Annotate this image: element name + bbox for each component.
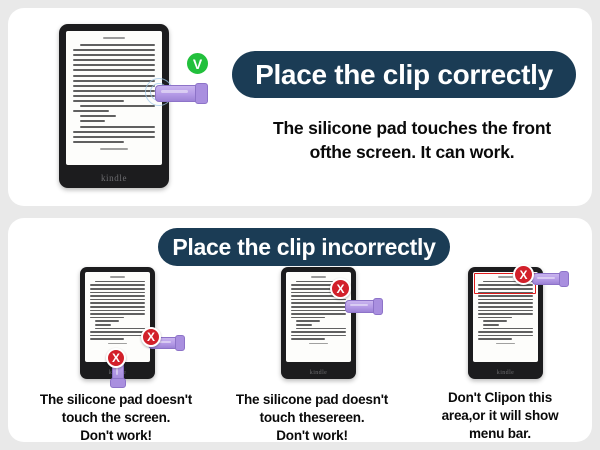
text-line <box>483 320 507 322</box>
text-line <box>73 141 124 143</box>
cross-error-icon: X <box>330 278 351 299</box>
cross-error-icon: X <box>513 264 534 285</box>
text-line <box>296 328 346 330</box>
text-line <box>478 299 533 301</box>
page-header-line <box>110 276 124 278</box>
text-line <box>80 120 105 122</box>
text-line <box>95 281 145 283</box>
text-line <box>73 95 155 97</box>
text-line <box>73 75 155 77</box>
text-line <box>90 295 145 297</box>
text-line <box>291 306 346 308</box>
text-line <box>95 328 145 330</box>
text-line <box>478 331 533 333</box>
text-line <box>90 310 145 312</box>
text-line <box>90 317 124 319</box>
text-line <box>478 335 533 337</box>
text-line <box>296 320 320 322</box>
kindle-brand-label: kindle <box>59 173 169 183</box>
kindle-brand-label: kindle <box>468 370 543 376</box>
text-line <box>291 317 325 319</box>
text-line <box>80 44 155 46</box>
text-line <box>90 338 124 340</box>
text-line <box>478 313 533 315</box>
cross-error-icon: X <box>106 348 126 368</box>
text-line <box>73 131 155 133</box>
page-footer-line <box>108 343 127 345</box>
text-line <box>90 306 145 308</box>
text-line <box>90 331 145 333</box>
caption-line2: touch the screen. <box>18 409 214 427</box>
text-line <box>73 90 155 92</box>
clip-pad-bad-1-side <box>175 335 185 351</box>
text-line <box>90 292 145 294</box>
clip-pad-bad-1-bottom <box>110 378 126 388</box>
text-line <box>291 299 346 301</box>
text-line <box>478 338 512 340</box>
page-footer-line <box>100 148 128 150</box>
banner-place-clip-incorrectly: Place the clip incorrectly <box>158 228 450 266</box>
caption-line2: touch thesereen. <box>214 409 410 427</box>
text-line <box>90 288 145 290</box>
caption-line3: menu bar. <box>405 425 595 443</box>
page-footer-line <box>496 343 515 345</box>
text-line <box>291 310 346 312</box>
text-line <box>80 115 116 117</box>
caption-line2: area,or it will show <box>405 407 595 425</box>
text-line <box>296 324 313 326</box>
text-line <box>80 126 155 128</box>
banner-place-clip-correctly: Place the clip correctly <box>232 51 576 98</box>
correct-subtitle-line2: ofthe screen. It can work. <box>236 140 588 164</box>
text-line <box>90 299 145 301</box>
caption-bad-3: Don't Clipon this area,or it will show m… <box>405 389 595 442</box>
text-line <box>73 54 155 56</box>
page-header-line <box>103 37 124 39</box>
text-line <box>483 328 533 330</box>
page-footer-line <box>309 343 328 345</box>
caption-line3: Don't work! <box>214 427 410 445</box>
caption-line1: The silicone pad doesn't <box>214 391 410 409</box>
text-line <box>90 335 145 337</box>
text-line <box>478 302 533 304</box>
caption-line3: Don't work! <box>18 427 214 445</box>
text-line <box>73 49 155 51</box>
text-line <box>73 136 155 138</box>
kindle-device-correct: kindle <box>59 24 169 188</box>
text-line <box>291 335 346 337</box>
text-line <box>90 284 145 286</box>
text-line <box>291 313 346 315</box>
correct-subtitle: The silicone pad touches the front ofthe… <box>236 116 588 164</box>
text-line <box>73 80 155 82</box>
text-line <box>73 59 155 61</box>
text-line <box>73 64 155 66</box>
caption-line1: The silicone pad doesn't <box>18 391 214 409</box>
clip-pad-correct <box>195 83 208 104</box>
text-line <box>90 313 145 315</box>
cross-error-icon: X <box>141 327 161 347</box>
text-line <box>478 310 533 312</box>
text-line <box>478 317 512 319</box>
text-line <box>483 324 500 326</box>
caption-bad-2: The silicone pad doesn't touch thesereen… <box>214 391 410 444</box>
text-line <box>291 338 325 340</box>
text-line <box>73 110 109 112</box>
text-line <box>478 295 533 297</box>
checkmark-ok-icon: V <box>185 51 210 76</box>
text-line <box>80 105 155 107</box>
page-header-line <box>311 276 325 278</box>
text-line <box>95 320 119 322</box>
text-line <box>73 69 155 71</box>
kindle-brand-label: kindle <box>281 370 356 376</box>
caption-line1: Don't Clipon this <box>405 389 595 407</box>
text-line <box>291 331 346 333</box>
correct-subtitle-line1: The silicone pad touches the front <box>236 116 588 140</box>
text-line <box>90 302 145 304</box>
caption-bad-1: The silicone pad doesn't touch the scree… <box>18 391 214 444</box>
text-line <box>95 324 112 326</box>
text-line <box>73 85 155 87</box>
clip-pad-bad-3 <box>559 271 569 287</box>
text-line <box>73 100 124 102</box>
clip-pad-bad-2 <box>373 298 383 315</box>
text-line <box>291 302 346 304</box>
text-line <box>478 306 533 308</box>
